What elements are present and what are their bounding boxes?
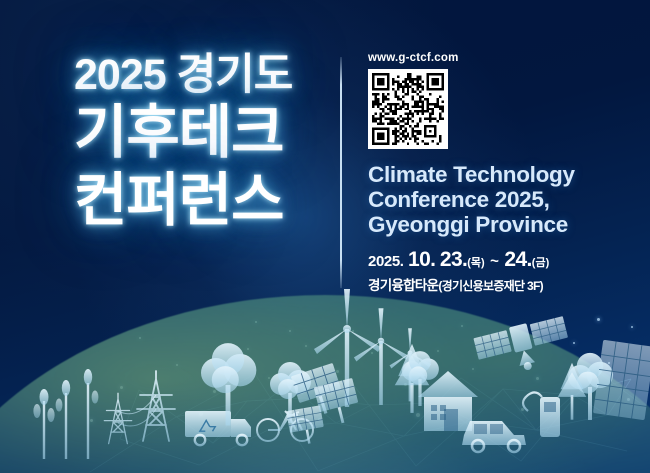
qr-code-icon[interactable] bbox=[368, 69, 448, 149]
ev-charger-icon bbox=[523, 392, 560, 437]
electric-car-icon bbox=[462, 421, 526, 452]
house-icon bbox=[418, 371, 478, 431]
date-day-start: 23. bbox=[440, 248, 467, 271]
venue-detail: (경기신용보증재단 3F) bbox=[438, 279, 543, 293]
power-pylon-icon bbox=[137, 371, 175, 441]
date-range-separator: ~ bbox=[489, 253, 500, 270]
vertical-divider bbox=[340, 57, 342, 288]
title-line-conference: 컨퍼런스 bbox=[74, 170, 336, 232]
english-title-line1: Climate Technology bbox=[368, 162, 608, 187]
wind-turbine-icon bbox=[354, 308, 409, 405]
date-weekday-end: (금) bbox=[532, 257, 549, 269]
poster-root: 2025 경기도 기후테크 컨퍼런스 www.g-ctcf.com Climat… bbox=[0, 0, 650, 473]
eco-illustration bbox=[0, 283, 650, 473]
date-weekday-start: (목) bbox=[467, 257, 484, 269]
website-url[interactable]: www.g-ctcf.com bbox=[368, 52, 608, 64]
event-date: 2025. 10. 23.(목) ~ 24.(금) bbox=[368, 248, 608, 272]
info-column: www.g-ctcf.com Climate Technology Confer… bbox=[368, 52, 608, 294]
event-venue: 경기융합타운(경기신용보증재단 3F) bbox=[368, 274, 608, 294]
antenna-group bbox=[33, 369, 98, 459]
recycling-truck-icon bbox=[185, 411, 251, 445]
satellite-icon bbox=[473, 314, 573, 381]
date-month: 10. bbox=[408, 248, 435, 271]
venue-name: 경기융합타운 bbox=[368, 278, 438, 293]
english-title-line2: Conference 2025, bbox=[368, 187, 608, 212]
title-line-climate-tech: 기후테크 bbox=[74, 102, 336, 164]
english-title-line3: Gyeonggi Province bbox=[368, 212, 608, 237]
date-year: 2025. bbox=[368, 253, 404, 270]
solar-panel-icon bbox=[593, 340, 650, 421]
english-title: Climate Technology Conference 2025, Gyeo… bbox=[368, 162, 608, 237]
power-pylon-icon bbox=[104, 393, 131, 443]
title-line-year-region: 2025 경기도 bbox=[74, 50, 336, 100]
main-title: 2025 경기도 기후테크 컨퍼런스 bbox=[74, 50, 336, 232]
date-day-end: 24. bbox=[504, 248, 531, 271]
